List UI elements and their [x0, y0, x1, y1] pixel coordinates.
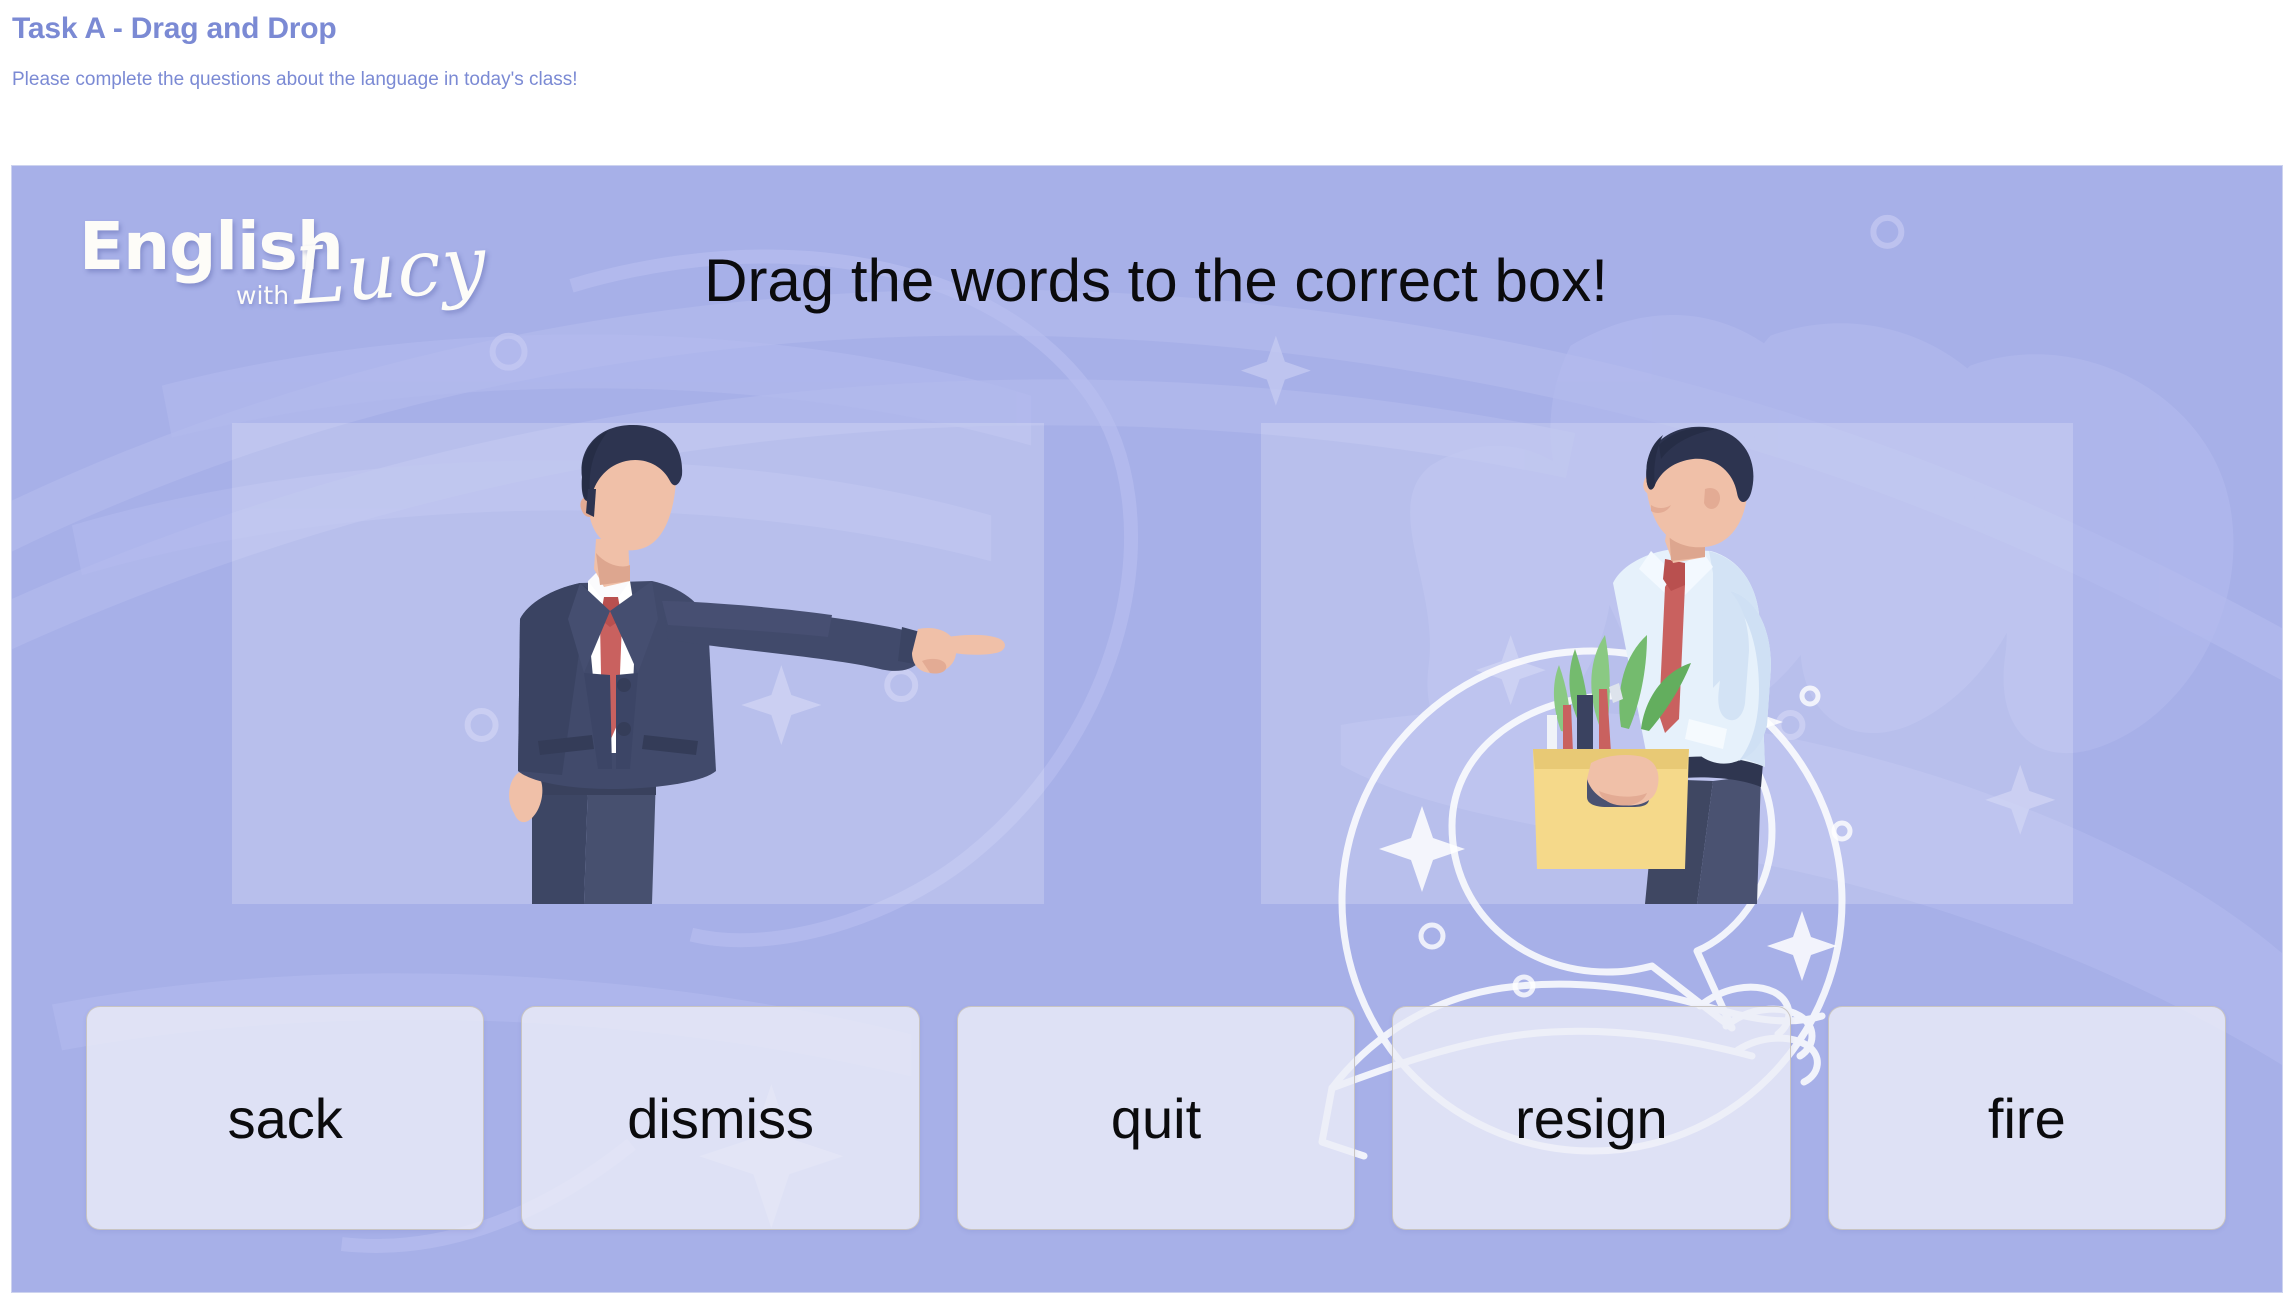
logo-word-english: English [79, 208, 343, 285]
instruction-heading: Drag the words to the correct box! [656, 246, 1656, 315]
word-tile-dismiss[interactable]: dismiss [521, 1006, 919, 1230]
illustration-employee-with-box [1261, 423, 2073, 904]
word-tile-quit[interactable]: quit [957, 1006, 1355, 1230]
illustration-boss-pointing [232, 423, 1044, 904]
activity-panel: English with Lucy Drag the words to the … [11, 165, 2283, 1293]
page-header: Task A - Drag and Drop Please complete t… [0, 0, 2294, 165]
dropzone-employee-leaving[interactable] [1261, 423, 2073, 904]
word-tile-sack[interactable]: sack [86, 1006, 484, 1230]
page-title: Task A - Drag and Drop [12, 12, 337, 46]
logo-word-with: with [236, 281, 289, 310]
brand-logo: English with Lucy [79, 208, 519, 328]
page-subtitle: Please complete the questions about the … [12, 69, 578, 91]
word-tile-fire[interactable]: fire [1828, 1006, 2226, 1230]
word-bank: sack dismiss quit resign fire [86, 1006, 2226, 1230]
logo-word-lucy: Lucy [290, 219, 490, 322]
dropzone-boss-firing[interactable] [232, 423, 1044, 904]
word-tile-resign[interactable]: resign [1392, 1006, 1790, 1230]
